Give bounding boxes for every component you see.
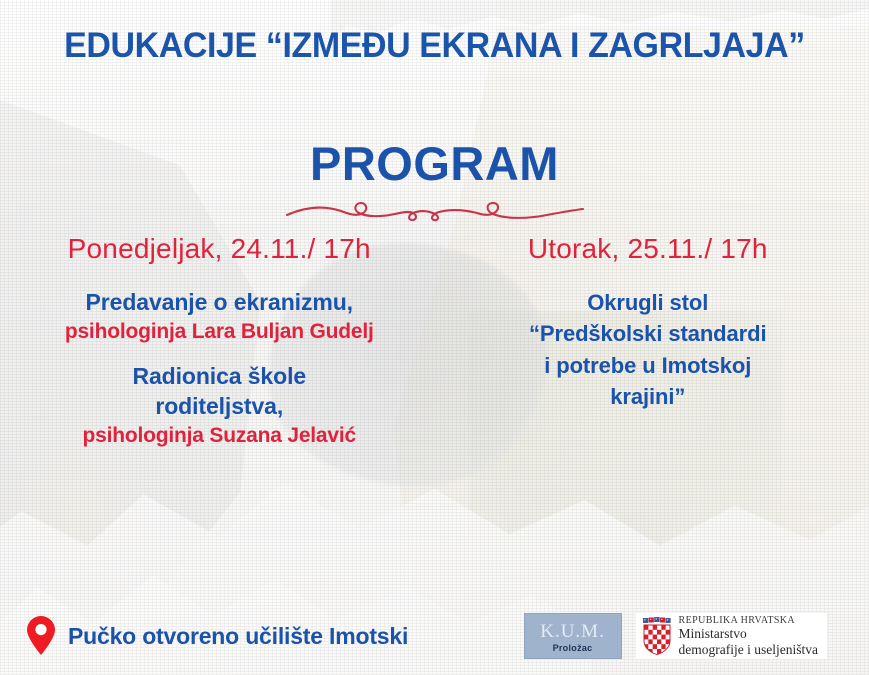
ministry-name-line-2: demografije i useljeništva bbox=[679, 642, 818, 657]
item-title: Predavanje o ekranizmu, bbox=[18, 287, 421, 317]
item-presenter: psihologinja Suzana Jelavić bbox=[18, 422, 421, 449]
program-section: PROGRAM bbox=[0, 140, 869, 225]
venue-block: Pučko otvoreno učilište Imotski bbox=[0, 616, 408, 656]
column-tuesday: Utorak, 25.11./ 17h Okrugli stol“Predško… bbox=[435, 233, 869, 465]
venue-name: Pučko otvoreno učilište Imotski bbox=[68, 623, 408, 650]
date-tuesday: Utorak, 25.11./ 17h bbox=[449, 233, 848, 265]
decorative-swirl-divider bbox=[285, 197, 585, 225]
croatian-coat-of-arms bbox=[642, 617, 672, 655]
event-poster: EDUKACIJE “IZMEĐU EKRANA I ZAGRLJAJA” PR… bbox=[0, 0, 869, 675]
program-item: Radionica školeroditeljstva, psihologinj… bbox=[18, 361, 421, 449]
program-item: Okrugli stol“Predškolski standardii potr… bbox=[449, 287, 848, 412]
ministry-country-line: REPUBLIKA HRVATSKA bbox=[679, 615, 818, 626]
kum-logo-sub-text: Proložac bbox=[553, 643, 593, 653]
location-pin-icon bbox=[26, 616, 56, 656]
program-title: PROGRAM bbox=[0, 140, 869, 187]
sponsor-logos: K.U.M. Proložac bbox=[524, 613, 869, 659]
kum-prolozac-logo: K.U.M. Proložac bbox=[524, 613, 622, 659]
poster-headline: EDUKACIJE “IZMEĐU EKRANA I ZAGRLJAJA” bbox=[13, 26, 856, 66]
date-monday: Ponedjeljak, 24.11./ 17h bbox=[18, 233, 421, 265]
ministry-name-line-1: Ministarstvo bbox=[679, 626, 818, 641]
poster-content: EDUKACIJE “IZMEĐU EKRANA I ZAGRLJAJA” PR… bbox=[0, 0, 869, 675]
column-monday: Ponedjeljak, 24.11./ 17h Predavanje o ek… bbox=[0, 233, 435, 465]
program-item: Predavanje o ekranizmu, psihologinja Lar… bbox=[18, 287, 421, 345]
program-columns: Ponedjeljak, 24.11./ 17h Predavanje o ek… bbox=[0, 233, 869, 465]
item-presenter: psihologinja Lara Buljan Gudelj bbox=[18, 318, 421, 345]
item-title: Radionica školeroditeljstva, bbox=[18, 361, 421, 422]
item-title: Okrugli stol“Predškolski standardii potr… bbox=[449, 287, 848, 412]
kum-logo-main-text: K.U.M. bbox=[540, 622, 605, 641]
ministry-logo: REPUBLIKA HRVATSKA Ministarstvo demograf… bbox=[636, 613, 827, 659]
poster-footer: Pučko otvoreno učilište Imotski K.U.M. P… bbox=[0, 605, 869, 667]
ministry-text-block: REPUBLIKA HRVATSKA Ministarstvo demograf… bbox=[679, 615, 818, 656]
